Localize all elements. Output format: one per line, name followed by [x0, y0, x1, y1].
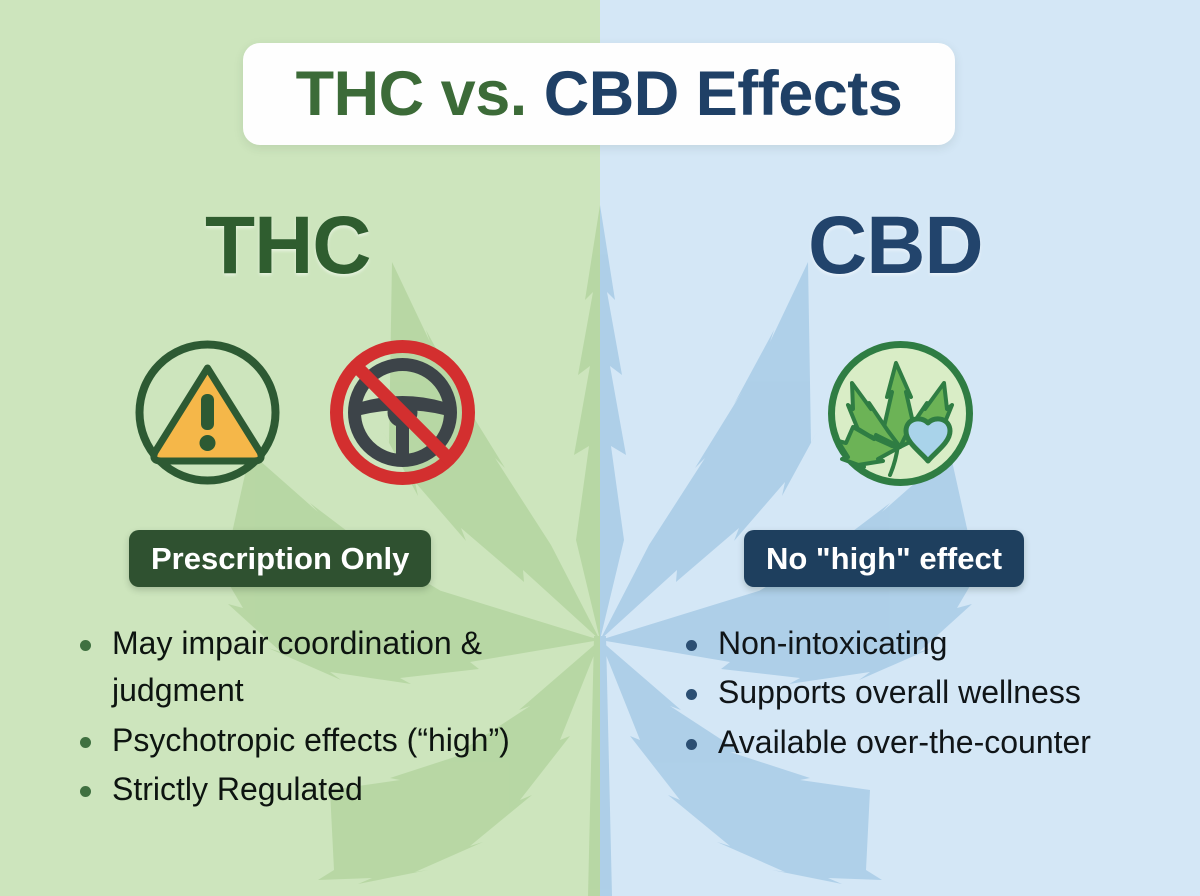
list-item: Supports overall wellness [676, 669, 1196, 716]
icon-row-thc [130, 335, 480, 490]
list-item: Strictly Regulated [70, 766, 570, 813]
no-driving-icon [325, 335, 480, 490]
list-item: May impair coordination & judgment [70, 620, 570, 715]
list-item: Non-intoxicating [676, 620, 1196, 667]
column-heading-cbd: CBD [808, 205, 983, 287]
bullet-list-thc: May impair coordination & judgment Psych… [70, 620, 570, 815]
icon-row-cbd [822, 335, 979, 492]
column-heading-thc: THC [205, 205, 371, 287]
badge-no-high-effect: No "high" effect [744, 530, 1024, 587]
infographic-canvas: THC vs. CBD Effects THC [0, 0, 1200, 896]
list-item: Psychotropic effects (“high”) [70, 717, 570, 764]
cannabis-leaf-heart-icon [822, 335, 979, 492]
column-cbd: CBD No "high" effect Non-intoxica [600, 0, 1200, 896]
column-thc: THC [0, 0, 600, 896]
list-item: Available over-the-counter [676, 719, 1196, 766]
badge-prescription-only: Prescription Only [129, 530, 431, 587]
bullet-list-cbd: Non-intoxicating Supports overall wellne… [676, 620, 1196, 768]
warning-triangle-icon [130, 335, 285, 490]
